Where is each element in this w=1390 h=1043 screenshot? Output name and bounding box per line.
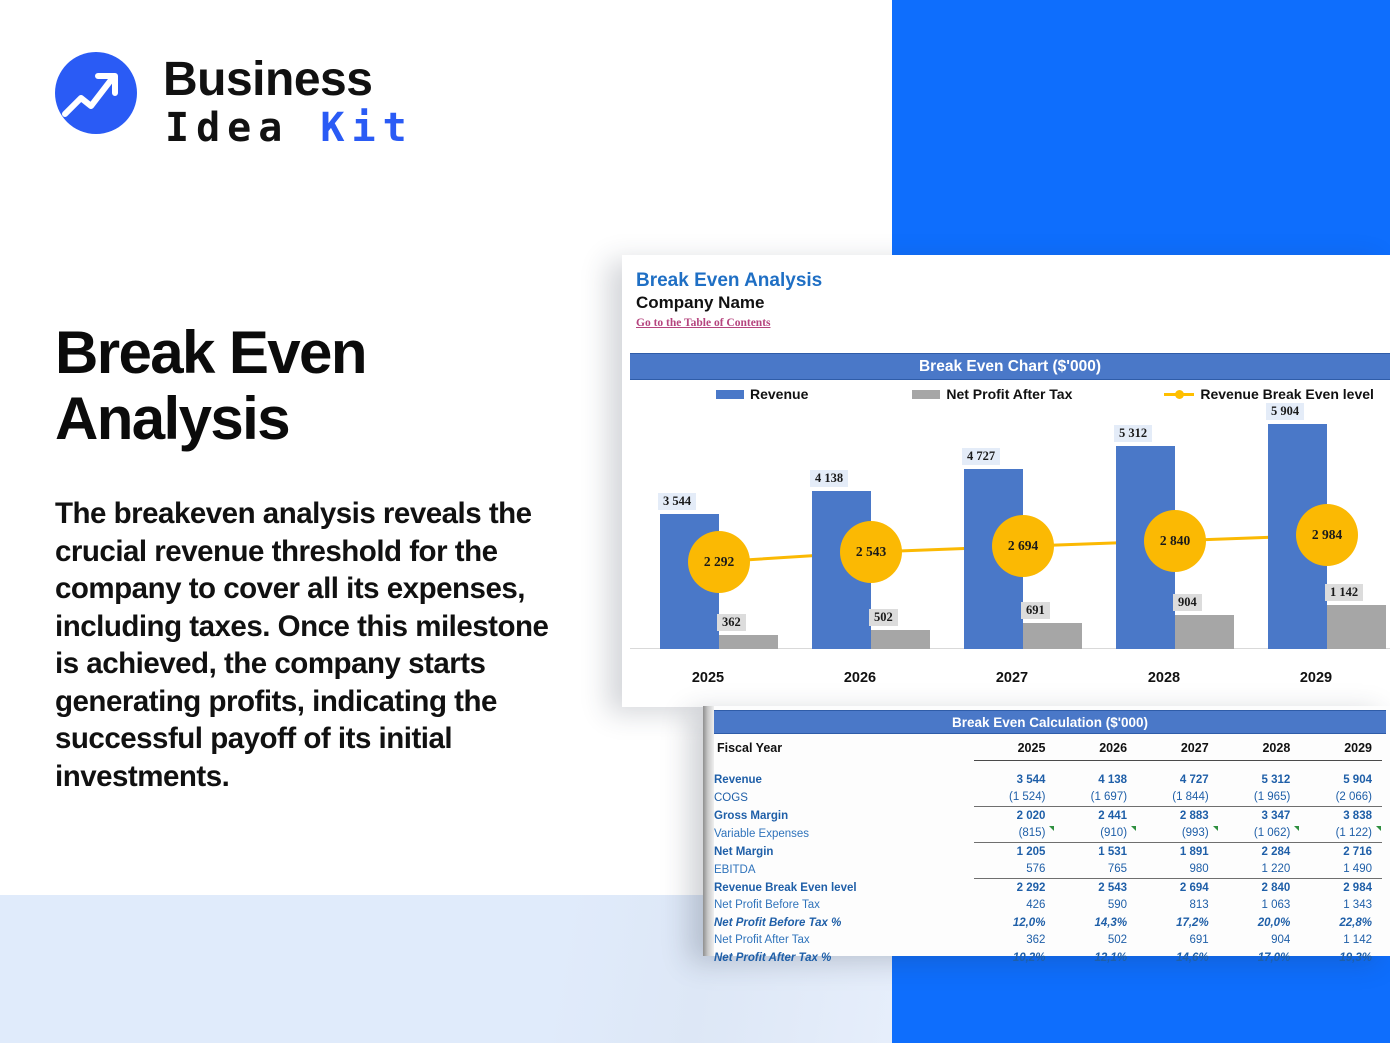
break-even-value-bubble: 2 543 (840, 521, 902, 583)
table-row: Revenue3 5444 1384 7275 3125 904 (714, 771, 1382, 789)
legend-item-revenue: Revenue (716, 386, 808, 402)
table-row: Gross Margin2 0202 4412 8833 3473 838 (714, 807, 1382, 825)
table-cell: (1 697) (1055, 789, 1137, 807)
bar-net-profit-after-tax (719, 635, 778, 649)
table-cell: 5 904 (1300, 771, 1382, 789)
table-cell: 4 727 (1137, 771, 1219, 789)
brand-wordmark-bottom: Idea Kit (165, 104, 414, 152)
table-cell: (993) (1137, 825, 1219, 843)
bar-label-revenue: 5 312 (1114, 425, 1152, 442)
table-cell: 2 716 (1300, 843, 1382, 861)
legend-item-net-profit-after-tax: Net Profit After Tax (912, 386, 1072, 402)
table-cell: 691 (1137, 932, 1219, 950)
break-even-value-bubble: 2 694 (992, 515, 1054, 577)
bar-label-revenue: 5 904 (1266, 403, 1304, 420)
table-cell: 2 694 (1137, 879, 1219, 897)
table-cell: 426 (974, 897, 1056, 915)
table-cell: 3 838 (1300, 807, 1382, 825)
table-cell: 20,0% (1219, 914, 1301, 932)
table-cell: 22,8% (1300, 914, 1382, 932)
table-of-contents-link[interactable]: Go to the Table of Contents (636, 315, 822, 331)
table-row-label: Variable Expenses (714, 825, 974, 843)
bar-label-net-profit-after-tax: 502 (869, 609, 898, 626)
legend-label-revenue: Revenue (750, 386, 808, 402)
break-even-value-bubble: 2 984 (1296, 504, 1358, 566)
table-cell: 3 544 (974, 771, 1056, 789)
table-cell: 1 891 (1137, 843, 1219, 861)
bar-net-profit-after-tax (871, 630, 930, 649)
table-cell: 2 441 (1055, 807, 1137, 825)
table-spacer-row (714, 761, 1382, 772)
sheet-title: Break Even Analysis (636, 269, 822, 292)
bar-label-net-profit-after-tax: 362 (717, 614, 746, 631)
bar-label-net-profit-after-tax: 904 (1173, 594, 1202, 611)
table-cell: 2 543 (1055, 879, 1137, 897)
table-title-text: Break Even Calculation ($'000) (952, 715, 1148, 730)
panel-left-edge (703, 706, 714, 956)
legend-swatch-revenue-icon (716, 390, 744, 399)
bar-net-profit-after-tax (1327, 605, 1386, 649)
table-cell: 590 (1055, 897, 1137, 915)
table-cell: 1 531 (1055, 843, 1137, 861)
table-row-label: Net Profit Before Tax (714, 897, 974, 915)
chart-x-axis-label: 2025 (632, 670, 784, 686)
chart-x-axis-label: 2027 (936, 670, 1088, 686)
break-even-value-bubble: 2 292 (688, 531, 750, 593)
legend-item-break-even-level: Revenue Break Even level (1164, 386, 1374, 402)
table-cell: 14,3% (1055, 914, 1137, 932)
table-title-bar: Break Even Calculation ($'000) (714, 710, 1386, 734)
table-row: Net Profit Before Tax4265908131 0631 343 (714, 897, 1382, 915)
sheet-header: Break Even Analysis Company Name Go to t… (636, 269, 822, 331)
table-cell: 4 138 (1055, 771, 1137, 789)
table-cell: (815) (974, 825, 1056, 843)
chart-title-bar: Break Even Chart ($'000) (630, 353, 1390, 380)
background-blue-block-top-right (892, 0, 1390, 260)
table-cell: 1 205 (974, 843, 1056, 861)
table-row-label: Revenue (714, 771, 974, 789)
table-cell: 765 (1055, 861, 1137, 879)
table-cell: 2 020 (974, 807, 1056, 825)
table-row: Variable Expenses(815)(910)(993)(1 062)(… (714, 825, 1382, 843)
background-blue-block-bottom-right (892, 953, 1390, 1043)
hero-description: The breakeven analysis reveals the cruci… (55, 495, 555, 795)
table-cell: 502 (1055, 932, 1137, 950)
table-row: Net Profit After Tax3625026919041 142 (714, 932, 1382, 950)
brand-logo: Business Idea Kit (55, 52, 435, 156)
table-row-label: Gross Margin (714, 807, 974, 825)
break-even-calculation-panel: Break Even Calculation ($'000) Fiscal Ye… (703, 706, 1390, 956)
table-row: Revenue Break Even level2 2922 5432 6942… (714, 879, 1382, 897)
chart-x-axis-label: 2028 (1088, 670, 1240, 686)
legend-label-break-even-level: Revenue Break Even level (1200, 386, 1374, 402)
table-row-label: COGS (714, 789, 974, 807)
table-cell: (910) (1055, 825, 1137, 843)
table-cell: 2 284 (1219, 843, 1301, 861)
chart-x-axis-label: 2029 (1240, 670, 1390, 686)
table-column-header: 2025 (974, 736, 1056, 761)
legend-swatch-net-profit-icon (912, 390, 940, 399)
chart-legend: Revenue Net Profit After Tax Revenue Bre… (630, 383, 1390, 405)
table-column-header: 2027 (1137, 736, 1219, 761)
table-cell: 12,0% (974, 914, 1056, 932)
growth-arrow-circle-icon (55, 52, 137, 134)
bar-label-net-profit-after-tax: 1 142 (1325, 584, 1363, 601)
table-column-header: 2026 (1055, 736, 1137, 761)
chart-x-axis-label: 2026 (784, 670, 936, 686)
brand-wordmark-idea: Idea (165, 105, 320, 151)
table-cell: (1 122) (1300, 825, 1382, 843)
table-cell: 1 142 (1300, 932, 1382, 950)
table-cell: 1 220 (1219, 861, 1301, 879)
table-row-label: EBITDA (714, 861, 974, 879)
chart-title-text: Break Even Chart ($'000) (919, 358, 1101, 376)
table-row: COGS(1 524)(1 697)(1 844)(1 965)(2 066) (714, 789, 1382, 807)
table-cell: 980 (1137, 861, 1219, 879)
table-header-row: Fiscal Year20252026202720282029 (714, 736, 1382, 761)
bar-net-profit-after-tax (1023, 623, 1082, 649)
table-cell: 2 883 (1137, 807, 1219, 825)
table-row: Net Profit Before Tax %12,0%14,3%17,2%20… (714, 914, 1382, 932)
table-cell: 2 840 (1219, 879, 1301, 897)
table-cell: 1 490 (1300, 861, 1382, 879)
legend-line-marker-icon (1164, 389, 1194, 399)
table-cell: 362 (974, 932, 1056, 950)
table-cell: 3 347 (1219, 807, 1301, 825)
table-header-fiscal-year: Fiscal Year (714, 736, 974, 761)
brand-wordmark-top: Business (163, 54, 372, 106)
table-column-header: 2028 (1219, 736, 1301, 761)
sheet-company-name: Company Name (636, 292, 822, 313)
table-cell: (1 062) (1219, 825, 1301, 843)
table-row-label: Revenue Break Even level (714, 879, 974, 897)
table-cell: 1 343 (1300, 897, 1382, 915)
table-row-label: Net Margin (714, 843, 974, 861)
table-cell: 813 (1137, 897, 1219, 915)
table-cell: 5 312 (1219, 771, 1301, 789)
table-column-header: 2029 (1300, 736, 1382, 761)
brand-wordmark-top-text: Business (163, 53, 372, 106)
brand-wordmark-kit: Kit (320, 105, 413, 151)
break-even-value-bubble: 2 840 (1144, 510, 1206, 572)
table-cell: 904 (1219, 932, 1301, 950)
break-even-chart-panel: Break Even Analysis Company Name Go to t… (622, 255, 1390, 707)
table-row-label: Net Profit After Tax % (714, 949, 974, 967)
table-cell: (2 066) (1300, 789, 1382, 807)
table-cell: 17,0% (1219, 949, 1301, 967)
chart-bar-group: 3 544362 (632, 405, 784, 649)
bar-label-revenue: 4 138 (810, 470, 848, 487)
table-cell: 19,3% (1300, 949, 1382, 967)
table-cell: 1 063 (1219, 897, 1301, 915)
bar-label-revenue: 3 544 (658, 493, 696, 510)
break-even-table: Fiscal Year20252026202720282029Revenue3 … (714, 736, 1382, 967)
bar-label-net-profit-after-tax: 691 (1021, 602, 1050, 619)
table-row-label: Net Profit Before Tax % (714, 914, 974, 932)
legend-label-net-profit-after-tax: Net Profit After Tax (946, 386, 1072, 402)
page-title: Break Even Analysis (55, 320, 525, 452)
table-row: Net Profit After Tax %10,2%12,1%14,6%17,… (714, 949, 1382, 967)
table-cell: 14,6% (1137, 949, 1219, 967)
table-cell: 2 292 (974, 879, 1056, 897)
table-row-label: Net Profit After Tax (714, 932, 974, 950)
table-cell: (1 524) (974, 789, 1056, 807)
table-cell: 17,2% (1137, 914, 1219, 932)
table-cell: 2 984 (1300, 879, 1382, 897)
table-row: EBITDA5767659801 2201 490 (714, 861, 1382, 879)
table-cell: 10,2% (974, 949, 1056, 967)
bar-net-profit-after-tax (1175, 615, 1234, 649)
table-row: Net Margin1 2051 5311 8912 2842 716 (714, 843, 1382, 861)
chart-plot-area: 3 5443624 1385024 7276915 3129045 9041 1… (630, 405, 1390, 700)
table-cell: 12,1% (1055, 949, 1137, 967)
bar-label-revenue: 4 727 (962, 448, 1000, 465)
table-cell: 576 (974, 861, 1056, 879)
table-cell: (1 965) (1219, 789, 1301, 807)
table-cell: (1 844) (1137, 789, 1219, 807)
